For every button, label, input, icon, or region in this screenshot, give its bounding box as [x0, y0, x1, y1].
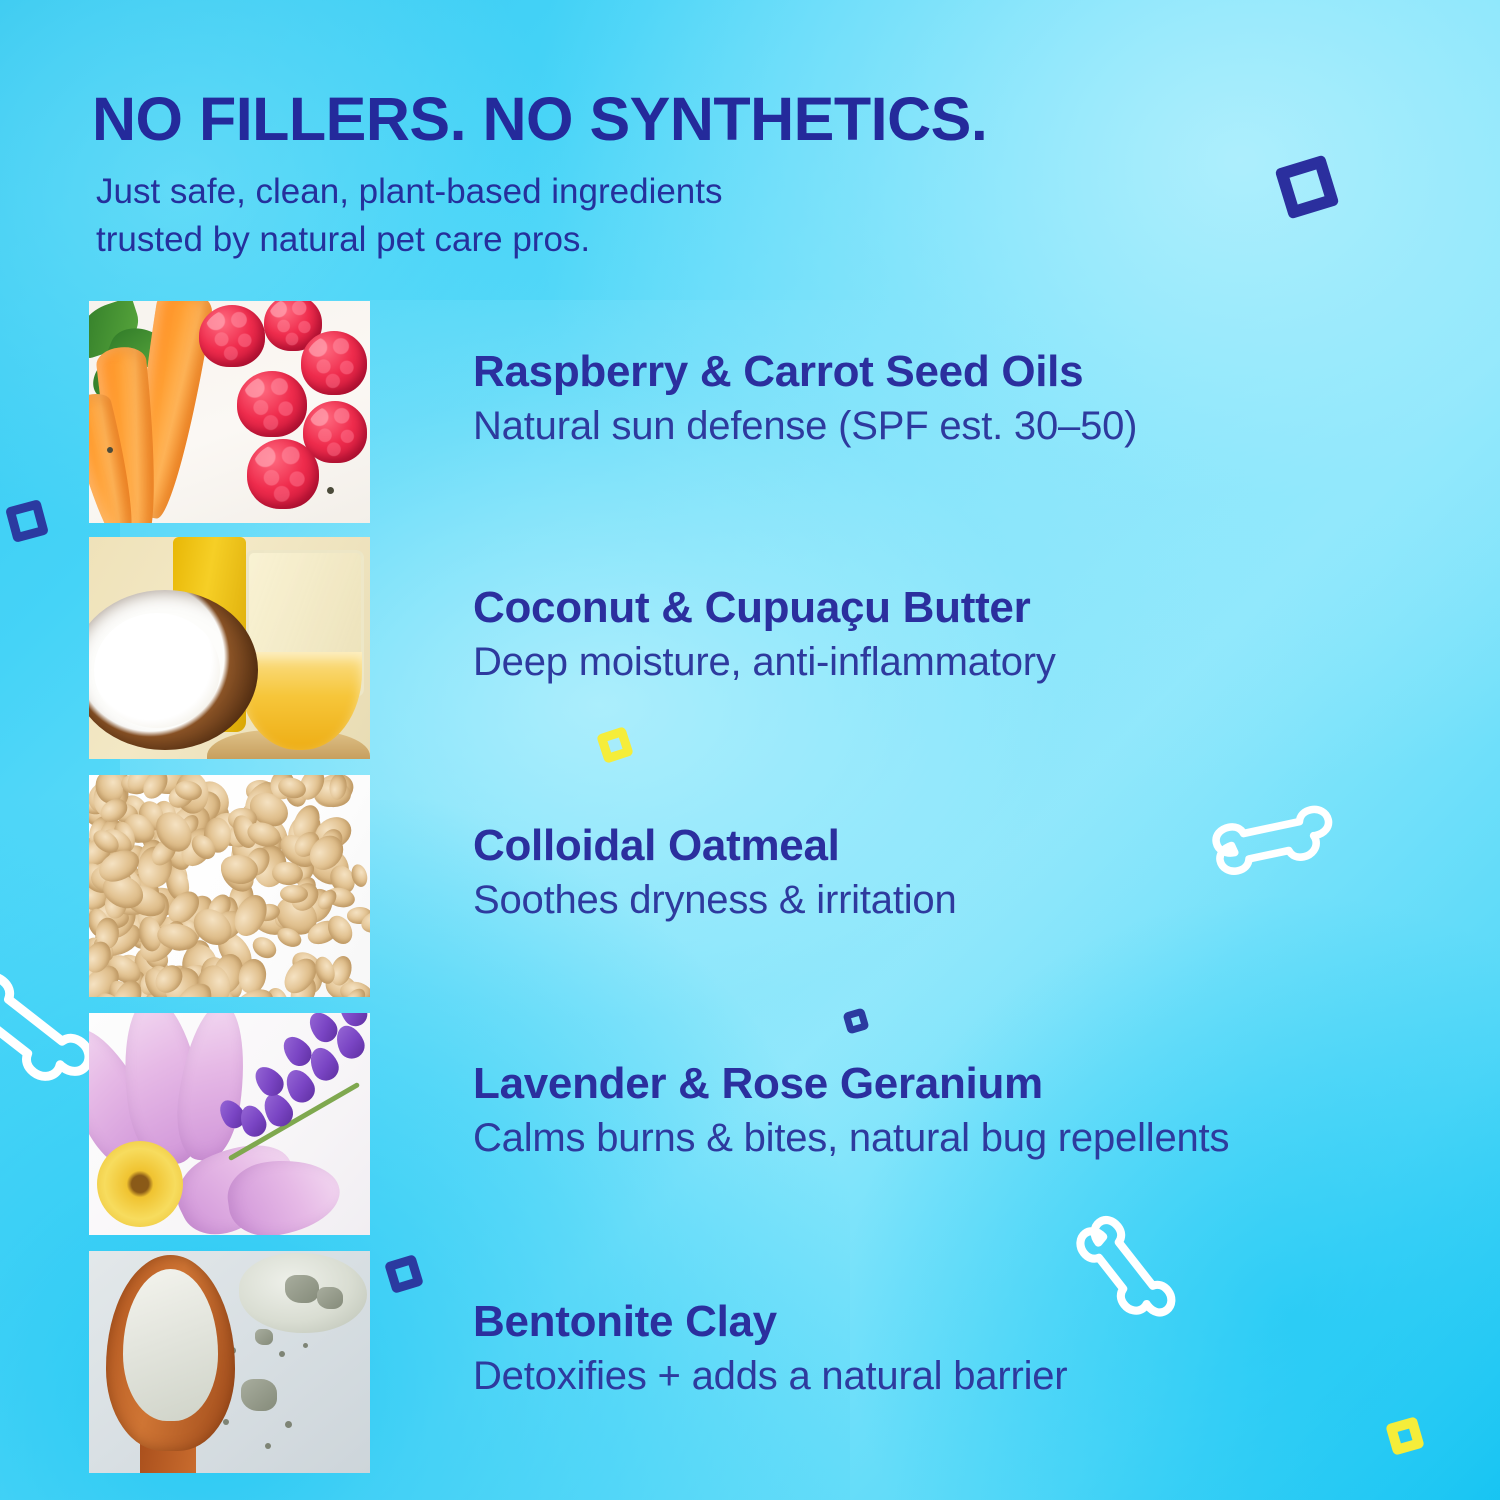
ingredient-title: Colloidal Oatmeal: [473, 823, 957, 869]
subtitle-line-1: Just safe, clean, plant-based ingredient…: [96, 168, 723, 216]
ingredient-text: Coconut & Cupuaçu Butter Deep moisture, …: [473, 585, 1056, 686]
ingredient-description: Natural sun defense (SPF est. 30–50): [473, 403, 1137, 450]
pepper-speck: [107, 447, 113, 453]
raspberry: [301, 331, 367, 395]
pepper-speck: [327, 487, 334, 494]
ingredient-title: Coconut & Cupuaçu Butter: [473, 585, 1056, 631]
ingredient-title: Raspberry & Carrot Seed Oils: [473, 349, 1137, 395]
photo-canvas: [89, 1251, 370, 1473]
ingredient-description: Soothes dryness & irritation: [473, 877, 957, 924]
raspberry: [247, 439, 319, 509]
raspberry: [199, 305, 265, 367]
clay-speck: [285, 1421, 292, 1428]
photo-canvas: [89, 1013, 370, 1235]
ingredient-text: Lavender & Rose Geranium Calms burns & b…: [473, 1061, 1229, 1162]
bentonite-clay-spoon-photo: [89, 1251, 370, 1473]
ingredient-description: Deep moisture, anti-inflammatory: [473, 639, 1056, 686]
carrots-and-raspberries-photo: [89, 301, 370, 523]
clay-chunk: [317, 1287, 343, 1309]
ingredient-description: Detoxifies + adds a natural barrier: [473, 1353, 1067, 1400]
clay-speck: [279, 1351, 285, 1357]
clay-speck: [303, 1343, 308, 1348]
coconut-and-oil-photo: [89, 537, 370, 759]
clay-speck: [223, 1419, 229, 1425]
ingredient-title: Lavender & Rose Geranium: [473, 1061, 1229, 1107]
page-title: NO FILLERS. NO SYNTHETICS.: [92, 84, 987, 154]
ingredient-text: Colloidal Oatmeal Soothes dryness & irri…: [473, 823, 957, 924]
clay-chunk: [241, 1379, 277, 1411]
rolled-oats-photo: [89, 775, 370, 997]
ingredient-text: Bentonite Clay Detoxifies + adds a natur…: [473, 1299, 1067, 1400]
lavender-and-geranium-flowers-photo: [89, 1013, 370, 1235]
oat-flake: [248, 933, 279, 962]
ingredient-title: Bentonite Clay: [473, 1299, 1067, 1345]
background-glow-bottom-right: [840, 890, 1500, 1500]
geranium-center: [97, 1141, 183, 1227]
subtitle-line-2: trusted by natural pet care pros.: [96, 216, 723, 264]
photo-canvas: [89, 775, 370, 997]
oat-flake: [280, 884, 308, 903]
clay-chunk: [255, 1329, 273, 1345]
ingredient-description: Calms burns & bites, natural bug repelle…: [473, 1115, 1229, 1162]
clay-speck: [265, 1443, 271, 1449]
raspberry: [237, 371, 307, 437]
page-subtitle: Just safe, clean, plant-based ingredient…: [96, 168, 723, 263]
lavender-bud: [249, 1061, 288, 1101]
ingredient-text: Raspberry & Carrot Seed Oils Natural sun…: [473, 349, 1137, 450]
photo-canvas: [89, 301, 370, 523]
wooden-spoon-with-clay: [106, 1255, 235, 1450]
photo-canvas: [89, 537, 370, 759]
clay-chunk: [285, 1275, 319, 1303]
